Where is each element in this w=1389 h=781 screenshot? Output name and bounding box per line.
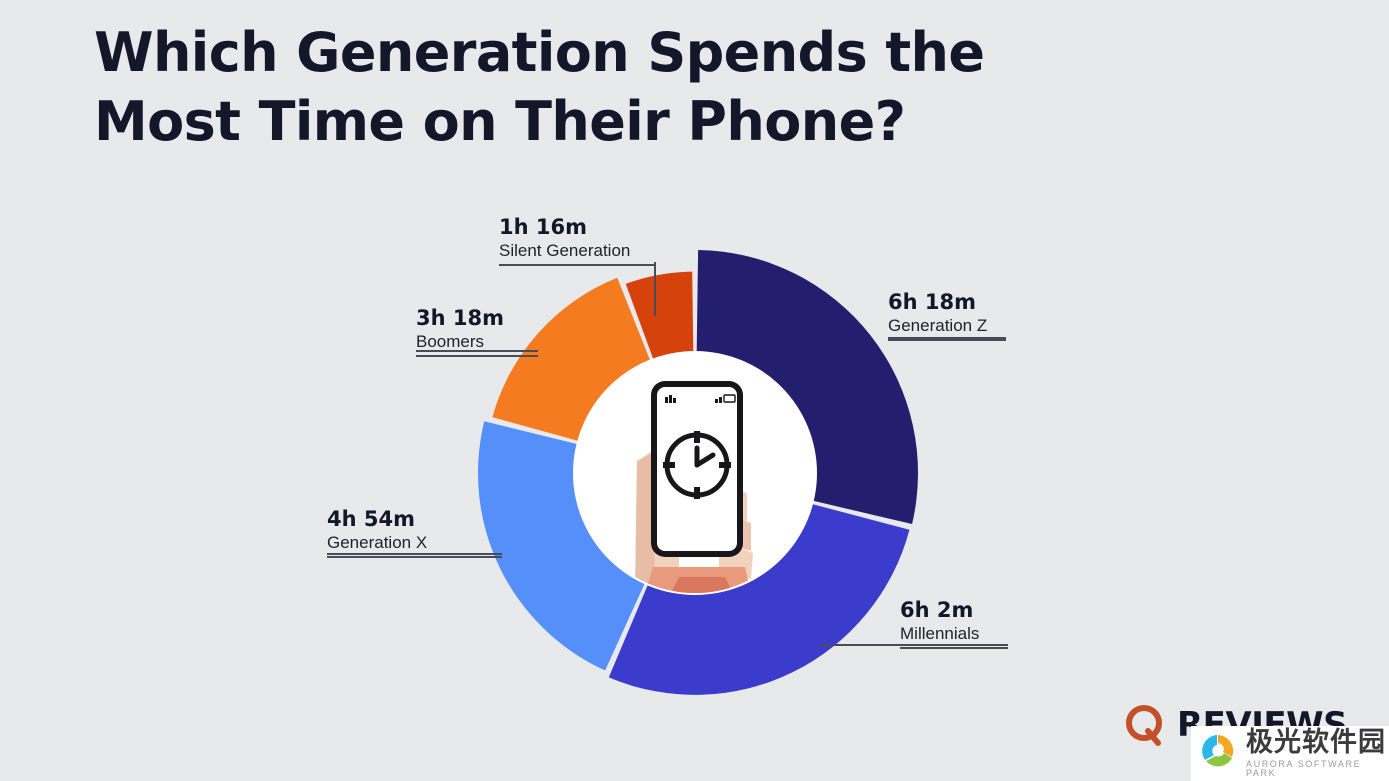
callout-silent-generation-category: Silent Generation xyxy=(499,240,656,261)
infographic-canvas: Which Generation Spends the Most Time on… xyxy=(0,0,1389,781)
callout-generation-z[interactable]: 6h 18m Generation Z xyxy=(888,290,1006,341)
callout-millennials-rule xyxy=(900,647,1008,649)
donut-chart: 1h 16m Silent Generation 3h 18m Boomers … xyxy=(0,0,1389,781)
callout-generation-x[interactable]: 4h 54m Generation X xyxy=(327,507,502,558)
callout-millennials-category: Millennials xyxy=(900,623,1008,644)
callout-generation-z-value: 6h 18m xyxy=(888,290,1006,315)
leader-line-silent-vertical xyxy=(654,262,656,316)
callout-boomers-value: 3h 18m xyxy=(416,306,538,331)
center-illustration xyxy=(575,353,815,593)
watermark-cn-text: 极光软件园 xyxy=(1246,729,1389,756)
callout-boomers[interactable]: 3h 18m Boomers xyxy=(416,306,538,357)
callout-silent-generation-value: 1h 16m xyxy=(499,215,656,240)
aurora-pinwheel-icon xyxy=(1197,730,1239,777)
q-mark-icon xyxy=(1124,703,1168,747)
callout-generation-x-rule xyxy=(327,556,502,558)
callout-generation-z-rule xyxy=(888,339,1006,341)
hand-wrist-shadow xyxy=(671,577,733,593)
watermark-text: 极光软件园 AURORA SOFTWARE PARK xyxy=(1246,729,1389,778)
watermark-en-text: AURORA SOFTWARE PARK xyxy=(1246,760,1389,778)
hand-holding-phone-illustration xyxy=(575,353,815,593)
callout-millennials-value: 6h 2m xyxy=(900,598,1008,623)
callout-generation-x-category: Generation X xyxy=(327,532,502,553)
callout-boomers-rule xyxy=(416,355,538,357)
callout-silent-generation[interactable]: 1h 16m Silent Generation xyxy=(499,215,656,266)
callout-boomers-category: Boomers xyxy=(416,331,538,352)
callout-silent-generation-rule xyxy=(499,264,656,266)
callout-generation-x-value: 4h 54m xyxy=(327,507,502,532)
callout-generation-z-category: Generation Z xyxy=(888,315,1006,336)
callout-millennials[interactable]: 6h 2m Millennials xyxy=(900,598,1008,649)
watermark-aurora-software-park: 极光软件园 AURORA SOFTWARE PARK xyxy=(1191,726,1389,781)
